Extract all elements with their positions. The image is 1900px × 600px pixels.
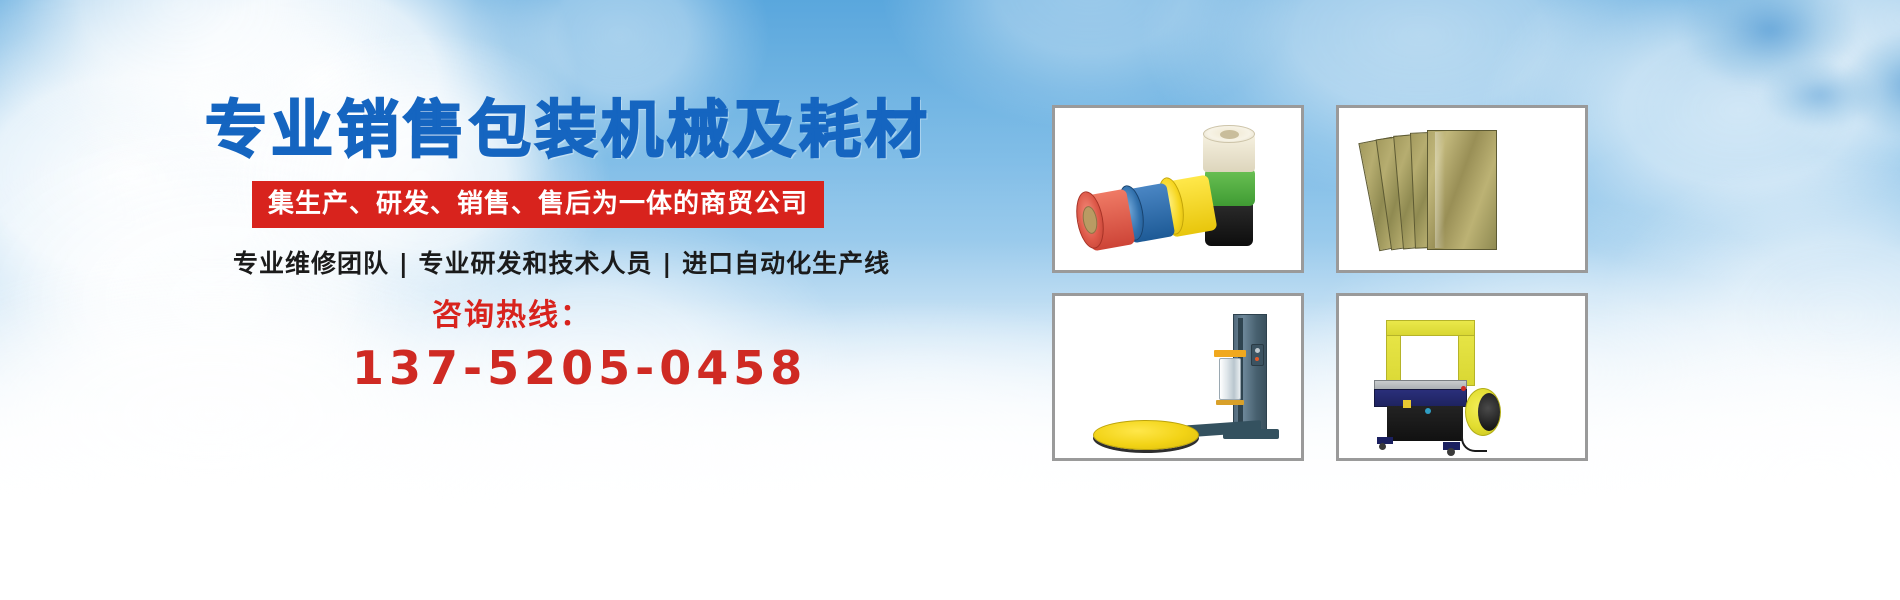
roll-white-core	[1220, 130, 1239, 139]
product-photo-strapping-machine[interactable]	[1336, 293, 1588, 461]
machine-warning-label	[1403, 400, 1411, 408]
stretch-film-roll	[1219, 358, 1241, 400]
machine-body-upper	[1374, 389, 1467, 407]
tagline-badge-label: 集生产、研发、销售、售后为一体的商贸公司	[268, 191, 808, 217]
product-photo-packing-straps[interactable]	[1052, 105, 1304, 273]
strapping-rolls-illustration	[1055, 108, 1301, 270]
hotline-number[interactable]: 137-5205-0458	[352, 341, 807, 396]
film-clamp-top	[1214, 350, 1246, 357]
wrapper-base-foot	[1223, 429, 1279, 439]
caster-left	[1379, 443, 1386, 450]
panel-button	[1255, 348, 1260, 353]
film-clamp-bottom	[1216, 400, 1244, 405]
page-title: 专业销售包装机械及耗材	[205, 99, 931, 161]
machine-cable	[1461, 430, 1487, 452]
hotline-label: 咨询热线：	[432, 298, 592, 334]
sack-fold-highlight	[1435, 132, 1445, 248]
banner-copy: 专业销售包装机械及耗材 集生产、研发、销售、售后为一体的商贸公司 专业维修团队 …	[0, 0, 860, 600]
caster-right	[1447, 448, 1455, 456]
strap-reel-hub	[1478, 393, 1500, 431]
panel-led	[1255, 357, 1259, 361]
woven-sacks-illustration	[1339, 108, 1585, 270]
promo-banner: 专业销售包装机械及耗材 集生产、研发、销售、售后为一体的商贸公司 专业维修团队 …	[0, 0, 1900, 600]
features-line: 专业维修团队 | 专业研发和技术人员 | 进口自动化生产线	[233, 249, 890, 279]
stretch-wrapper-illustration	[1055, 296, 1301, 458]
tagline-badge: 集生产、研发、销售、售后为一体的商贸公司	[252, 181, 824, 228]
wrapper-turntable	[1093, 420, 1199, 450]
arch-top-beam	[1386, 320, 1475, 336]
machine-stop-button	[1461, 386, 1466, 391]
machine-indicator	[1425, 408, 1431, 414]
product-photo-woven-sacks[interactable]	[1336, 105, 1588, 273]
product-photo-grid	[1052, 105, 1640, 480]
product-photo-stretch-wrapper[interactable]	[1052, 293, 1304, 461]
strapping-machine-illustration	[1339, 296, 1585, 458]
sky-gap	[1760, 60, 1880, 130]
